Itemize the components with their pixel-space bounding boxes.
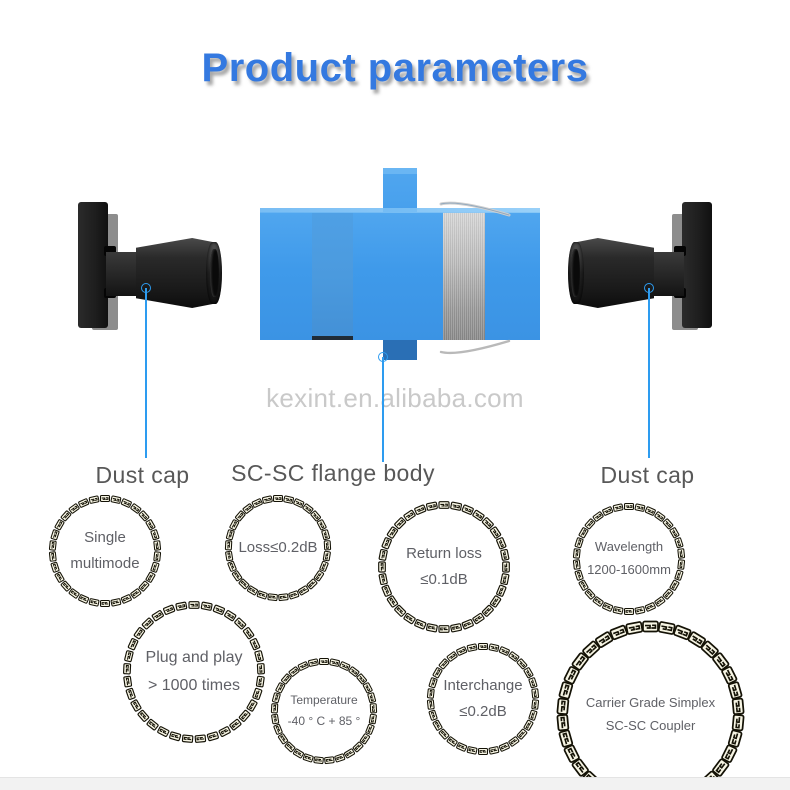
decorative-ring xyxy=(268,655,380,767)
pointer-line xyxy=(145,288,147,458)
cap-flange-plate xyxy=(682,202,712,328)
cap-neck xyxy=(650,252,684,296)
cap-flange-plate xyxy=(78,202,108,328)
bubble-interchange: Interchange≤0.2dB xyxy=(424,640,542,758)
cap-tip-opening xyxy=(571,249,580,297)
watermark-text: kexint.en.alibaba.com xyxy=(0,383,790,414)
decorative-ring xyxy=(570,500,688,618)
decorative-ring xyxy=(375,498,513,636)
decorative-ring xyxy=(424,640,542,758)
part-label-dust-cap-right: Dust cap xyxy=(565,462,730,489)
dust-cap-right-image xyxy=(562,200,712,340)
flange-stem-base xyxy=(383,340,417,360)
dust-cap-left-image xyxy=(78,200,228,340)
decorative-ring xyxy=(222,492,334,604)
bubble-loss: Loss≤0.2dB xyxy=(222,492,334,604)
flange-metal-sleeve xyxy=(443,212,485,340)
pointer-line xyxy=(382,357,384,462)
flange-stem-top-edge xyxy=(383,168,417,174)
decorative-ring xyxy=(46,492,164,610)
flange-wire-clip-top xyxy=(439,200,511,216)
decorative-ring xyxy=(553,617,748,790)
decorative-ring xyxy=(120,598,268,746)
cap-neck xyxy=(106,252,140,296)
bubble-temperature: Temperature-40 ° C + 85 ° xyxy=(268,655,380,767)
flange-segment xyxy=(485,212,540,340)
infographic-canvas: Product parameters xyxy=(0,0,790,790)
bubble-return-loss: Return loss≤0.1dB xyxy=(375,498,513,636)
flange-segment xyxy=(353,212,443,340)
flange-body-image xyxy=(255,168,545,368)
cap-tip-opening xyxy=(210,249,219,297)
flange-wire-clip-bottom xyxy=(439,338,511,354)
pointer-line xyxy=(648,288,650,458)
bubble-wavelength: Wavelength1200-1600mm xyxy=(570,500,688,618)
bubble-single-multimode: Singlemultimode xyxy=(46,492,164,610)
page-title: Product parameters xyxy=(0,46,790,91)
cap-barrel xyxy=(136,238,214,308)
footer-strip xyxy=(0,777,790,790)
cap-barrel xyxy=(576,238,654,308)
bubble-plug-and-play: Plug and play> 1000 times xyxy=(120,598,268,746)
flange-segment xyxy=(260,212,312,340)
bubble-carrier-grade: Carrier Grade SimplexSC-SC Coupler xyxy=(553,617,748,790)
flange-segment xyxy=(312,212,353,340)
part-label-flange-body: SC-SC flange body xyxy=(188,460,478,487)
